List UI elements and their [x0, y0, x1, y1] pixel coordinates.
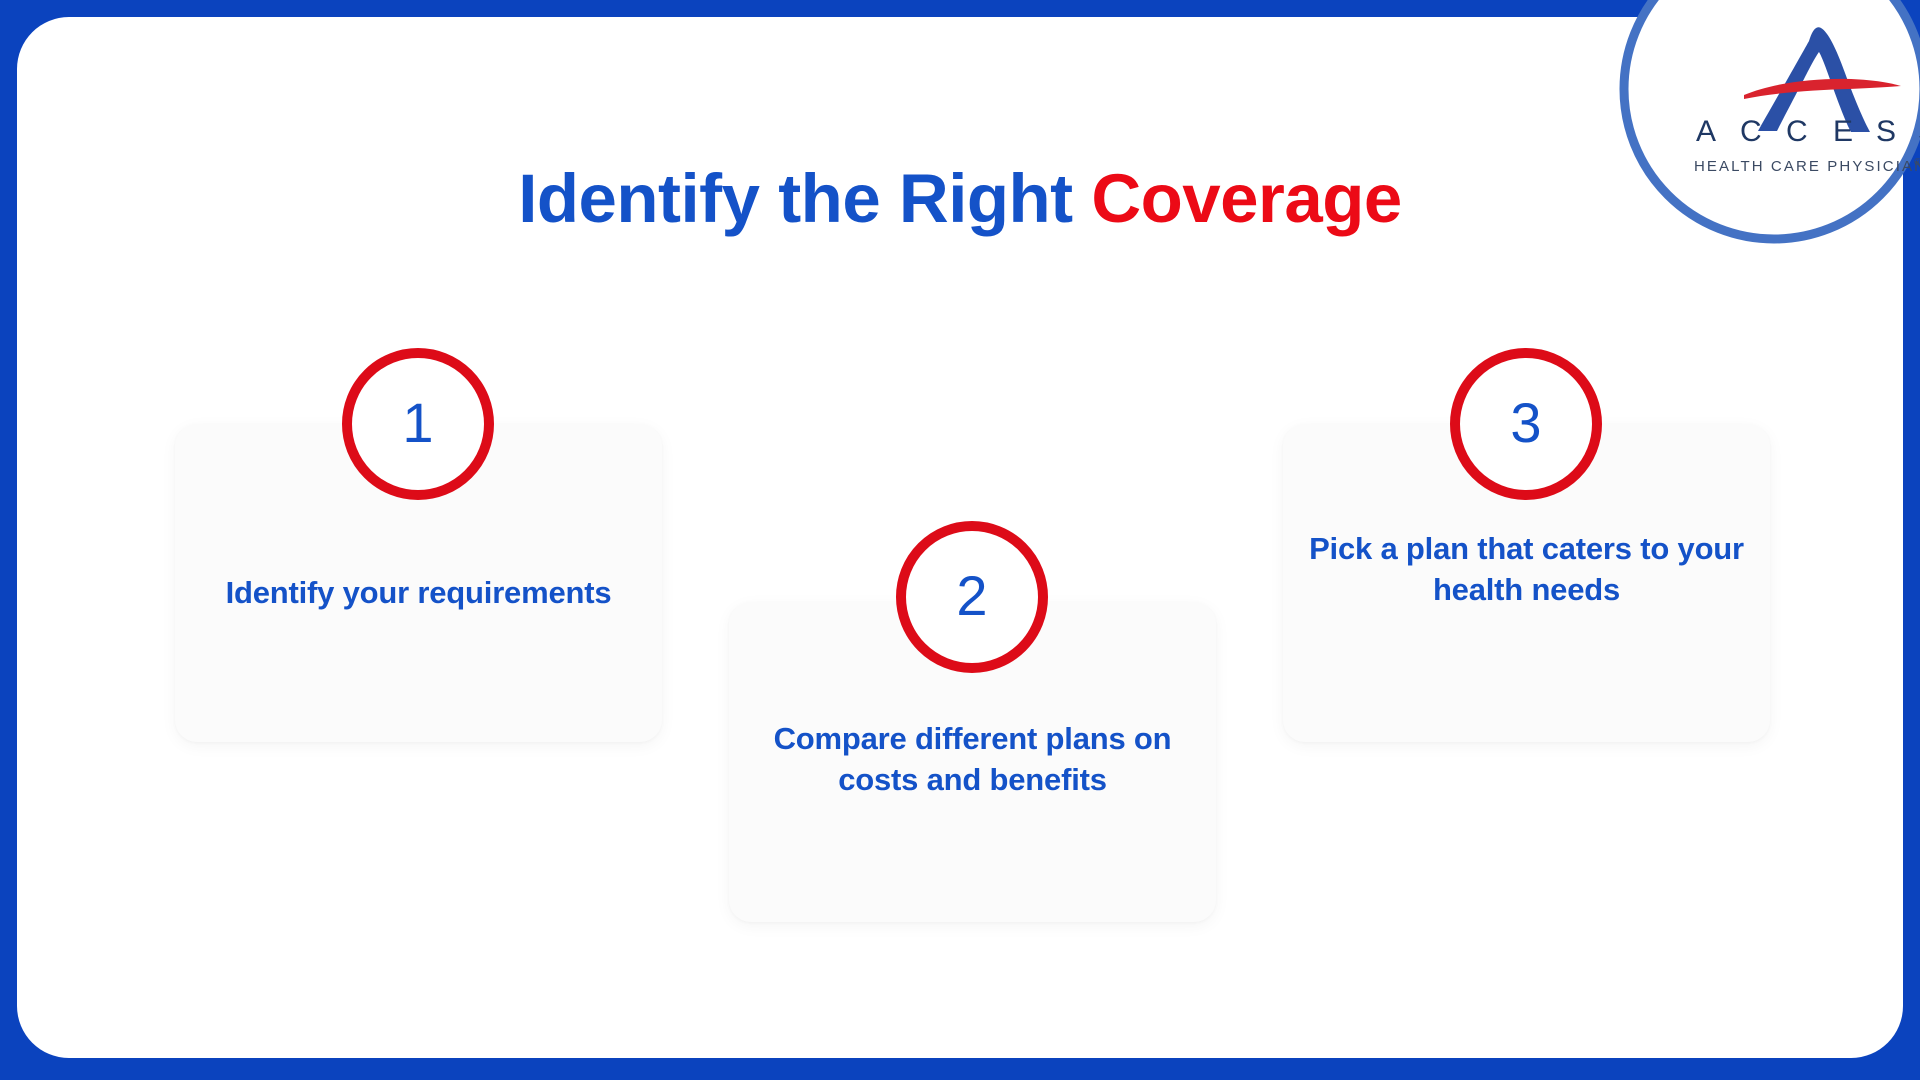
page-title-primary: Identify the Right: [518, 160, 1091, 237]
step-number-badge-1: 1: [342, 348, 494, 500]
logo-letter-c1: C: [1740, 115, 1762, 148]
step-number-badge-2: 2: [896, 521, 1048, 673]
logo-registered-mark: ®: [1914, 157, 1920, 168]
step-number-3: 3: [1510, 395, 1541, 451]
logo-letter-c2: C: [1786, 115, 1808, 148]
page-title-highlight: Coverage: [1091, 160, 1401, 237]
step-card-3-label: Pick a plan that caters to your health n…: [1309, 528, 1744, 610]
step-number-badge-3: 3: [1450, 348, 1602, 500]
logo-tagline-text: HEALTH CARE PHYSICIANS: [1694, 158, 1920, 175]
logo-letter-e: E: [1833, 115, 1853, 148]
logo-letter-s1: S: [1876, 115, 1896, 148]
step-number-1: 1: [402, 395, 433, 451]
logo-letter-a: A: [1696, 115, 1716, 148]
slide-root: Identify the Right Coverage Identify you…: [0, 0, 1920, 1080]
access-health-care-physicians-logo: A C C E S S HEALTH CARE PHYSICIANS ®: [1613, 0, 1920, 250]
step-number-2: 2: [956, 568, 987, 624]
step-card-1-label: Identify your requirements: [201, 572, 636, 613]
step-card-2-label: Compare different plans on costs and ben…: [755, 718, 1190, 800]
